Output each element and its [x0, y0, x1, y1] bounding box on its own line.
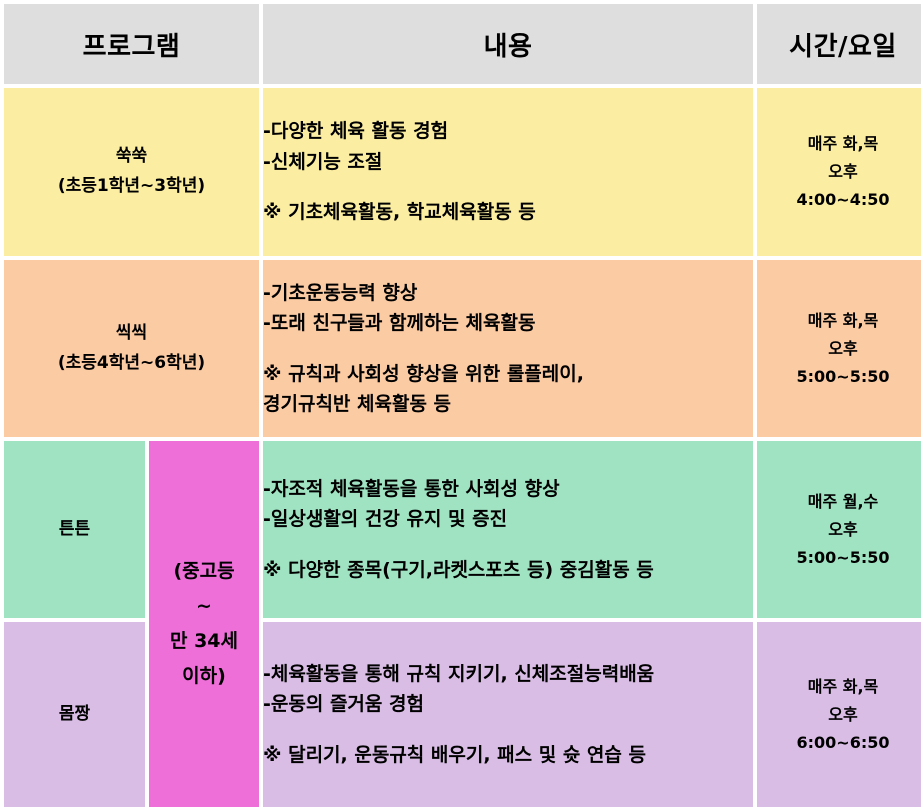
header-time: 시간/요일: [757, 4, 921, 84]
content-spacer: [263, 535, 753, 555]
time-range: 4:00~4:50: [757, 186, 921, 214]
program-cell-ssuk: 쑥쑥 (초등1학년~3학년): [4, 88, 259, 256]
content-note: ※ 기초체육활동, 학교체육활동 등: [263, 197, 753, 227]
header-row: 프로그램 내용 시간/요일: [4, 4, 921, 84]
program-cell-ssik: 씩씩 (초등4학년~6학년): [4, 260, 259, 437]
content-spacer: [263, 339, 753, 359]
content-cell-momjjang: -체육활동을 통해 규칙 지키기, 신체조절능력배움 -운동의 즐거움 경험 ※…: [263, 622, 753, 807]
content-note: ※ 다양한 종목(구기,라켓스포츠 등) 중김활동 등: [263, 555, 753, 585]
program-cell-teunteun: 튼튼: [4, 441, 145, 618]
content-line-1: -기초운동능력 향상: [263, 278, 753, 308]
program-grade: (초등4학년~6학년): [4, 349, 259, 379]
time-cell-ssik: 매주 화,목 오후 5:00~5:50: [757, 260, 921, 437]
time-days: 매주 화,목: [757, 673, 921, 701]
time-period: 오후: [757, 335, 921, 363]
table-row: 씩씩 (초등4학년~6학년) -기초운동능력 향상 -또래 친구들과 함께하는 …: [4, 260, 921, 437]
time-period: 오후: [757, 158, 921, 186]
time-period: 오후: [757, 516, 921, 544]
content-cell-teunteun: -자조적 체육활동을 통한 사회성 향상 -일상생활의 건강 유지 및 증진 ※…: [263, 441, 753, 618]
age-line-2: ~: [149, 589, 259, 624]
content-spacer: [263, 177, 753, 197]
time-days: 매주 화,목: [757, 307, 921, 335]
time-period: 오후: [757, 701, 921, 729]
content-line-1: -다양한 체육 활동 경험: [263, 116, 753, 146]
content-line-2: -운동의 즐거움 경험: [263, 689, 753, 719]
time-days: 매주 화,목: [757, 130, 921, 158]
content-line-1: -자조적 체육활동을 통한 사회성 향상: [263, 474, 753, 504]
content-line-2: -일상생활의 건강 유지 및 증진: [263, 504, 753, 534]
time-range: 6:00~6:50: [757, 729, 921, 757]
age-line-3: 만 34세: [149, 624, 259, 659]
content-line-1: -체육활동을 통해 규칙 지키기, 신체조절능력배움: [263, 659, 753, 689]
time-cell-ssuk: 매주 화,목 오후 4:00~4:50: [757, 88, 921, 256]
age-line-4: 이하): [149, 659, 259, 694]
content-note: ※ 달리기, 운동규칙 배우기, 패스 및 슛 연습 등: [263, 740, 753, 770]
program-name: 쑥쑥: [4, 142, 259, 172]
content-cell-ssik: -기초운동능력 향상 -또래 친구들과 함께하는 체육활동 ※ 규칙과 사회성 …: [263, 260, 753, 437]
content-line-2: -또래 친구들과 함께하는 체육활동: [263, 308, 753, 338]
schedule-sheet: 프로그램 내용 시간/요일 쑥쑥 (초등1학년~3학년) -다양한 체육 활동 …: [0, 0, 921, 797]
content-note: ※ 규칙과 사회성 향상을 위한 롤플레이,: [263, 359, 753, 389]
content-cell-ssuk: -다양한 체육 활동 경험 -신체기능 조절 ※ 기초체육활동, 학교체육활동 …: [263, 88, 753, 256]
content-line-2: -신체기능 조절: [263, 147, 753, 177]
time-days: 매주 월,수: [757, 488, 921, 516]
time-cell-momjjang: 매주 화,목 오후 6:00~6:50: [757, 622, 921, 807]
program-name: 씩씩: [4, 319, 259, 349]
content-line-3: 경기규칙반 체육활동 등: [263, 389, 753, 419]
program-grade: (초등1학년~3학년): [4, 172, 259, 202]
content-spacer: [263, 720, 753, 740]
time-range: 5:00~5:50: [757, 544, 921, 572]
program-name: 튼튼: [4, 515, 145, 545]
time-cell-teunteun: 매주 월,수 오후 5:00~5:50: [757, 441, 921, 618]
age-range-cell: (중고등 ~ 만 34세 이하): [149, 441, 259, 807]
table-row: 튼튼 (중고등 ~ 만 34세 이하) -자조적 체육활동을 통한 사회성 향상…: [4, 441, 921, 618]
age-line-1: (중고등: [149, 554, 259, 589]
table-body: 쑥쑥 (초등1학년~3학년) -다양한 체육 활동 경험 -신체기능 조절 ※ …: [4, 88, 921, 807]
header-program: 프로그램: [4, 4, 259, 84]
header-content: 내용: [263, 4, 753, 84]
table-header: 프로그램 내용 시간/요일: [4, 4, 921, 84]
table-row: 몸짱 -체육활동을 통해 규칙 지키기, 신체조절능력배움 -운동의 즐거움 경…: [4, 622, 921, 807]
program-schedule-table: 프로그램 내용 시간/요일 쑥쑥 (초등1학년~3학년) -다양한 체육 활동 …: [0, 0, 921, 811]
table-row: 쑥쑥 (초등1학년~3학년) -다양한 체육 활동 경험 -신체기능 조절 ※ …: [4, 88, 921, 256]
program-name: 몸짱: [4, 700, 145, 730]
time-range: 5:00~5:50: [757, 363, 921, 391]
program-cell-momjjang: 몸짱: [4, 622, 145, 807]
